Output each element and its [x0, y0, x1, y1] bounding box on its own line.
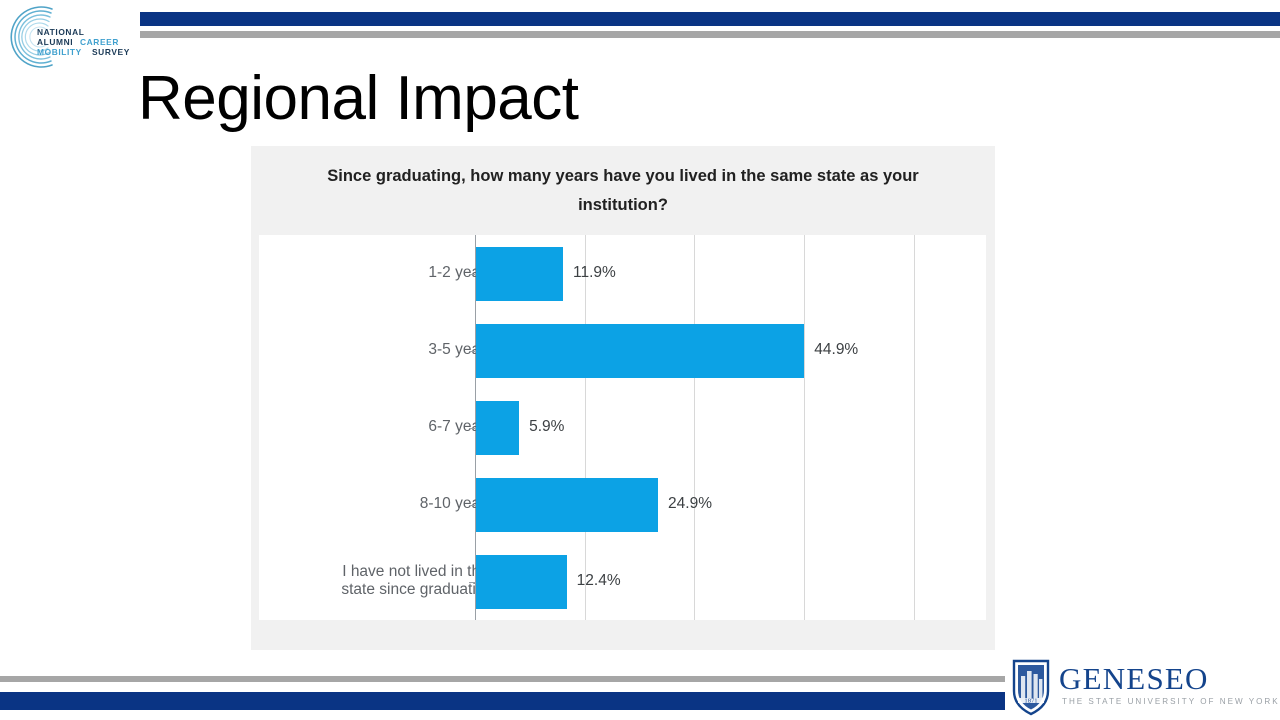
chart-bar[interactable]	[476, 324, 804, 378]
chart-plot-area: 1-2 years11.9%3-5 years44.9%6-7 years5.9…	[259, 235, 986, 620]
chart-axis-tick	[469, 428, 475, 429]
chart-gridline	[694, 235, 695, 620]
suny-geneseo-logo: 1871 GENESEO THE STATE UNIVERSITY OF NEW…	[1002, 659, 1280, 717]
chart-bar[interactable]	[476, 247, 563, 301]
slide-top-navy-rule	[140, 12, 1280, 26]
logo-line-mobility: MOBILITY	[37, 47, 82, 57]
shield-year: 1871	[1024, 697, 1037, 704]
chart-gridline	[585, 235, 586, 620]
chart-bar-value-label: 5.9%	[529, 418, 564, 436]
slide-bottom-navy-rule	[0, 692, 1005, 710]
chart-bar[interactable]	[476, 401, 519, 455]
chart-gridline	[804, 235, 805, 620]
page-title: Regional Impact	[138, 66, 579, 131]
logo-line-career: CAREER	[80, 37, 119, 47]
chart-bar-value-label: 12.4%	[577, 572, 621, 590]
chart-bar[interactable]	[476, 555, 567, 609]
chart-axis-tick	[469, 582, 475, 583]
slide-bottom-gray-rule	[0, 676, 1005, 682]
chart-title: Since graduating, how many years have yo…	[281, 162, 965, 220]
chart-card: Since graduating, how many years have yo…	[251, 146, 995, 650]
national-alumni-career-mobility-survey-logo: NATIONAL ALUMNI CAREER MOBILITY SURVEY	[6, 4, 146, 70]
logo-line-survey: SURVEY	[92, 47, 130, 57]
chart-bar-value-label: 24.9%	[668, 495, 712, 513]
chart-axis-tick	[469, 351, 475, 352]
chart-gridline	[914, 235, 915, 620]
chart-axis-tick	[469, 505, 475, 506]
geneseo-wordmark: GENESEO	[1059, 661, 1209, 696]
logo-line-alumni: ALUMNI	[37, 37, 73, 47]
chart-bar-value-label: 44.9%	[814, 341, 858, 359]
geneseo-tagline: THE STATE UNIVERSITY OF NEW YORK	[1062, 697, 1280, 706]
logo-line-national: NATIONAL	[37, 27, 84, 37]
chart-axis-tick	[469, 274, 475, 275]
chart-bar-value-label: 11.9%	[573, 264, 616, 282]
slide-top-gray-rule	[140, 31, 1280, 38]
chart-bar[interactable]	[476, 478, 658, 532]
